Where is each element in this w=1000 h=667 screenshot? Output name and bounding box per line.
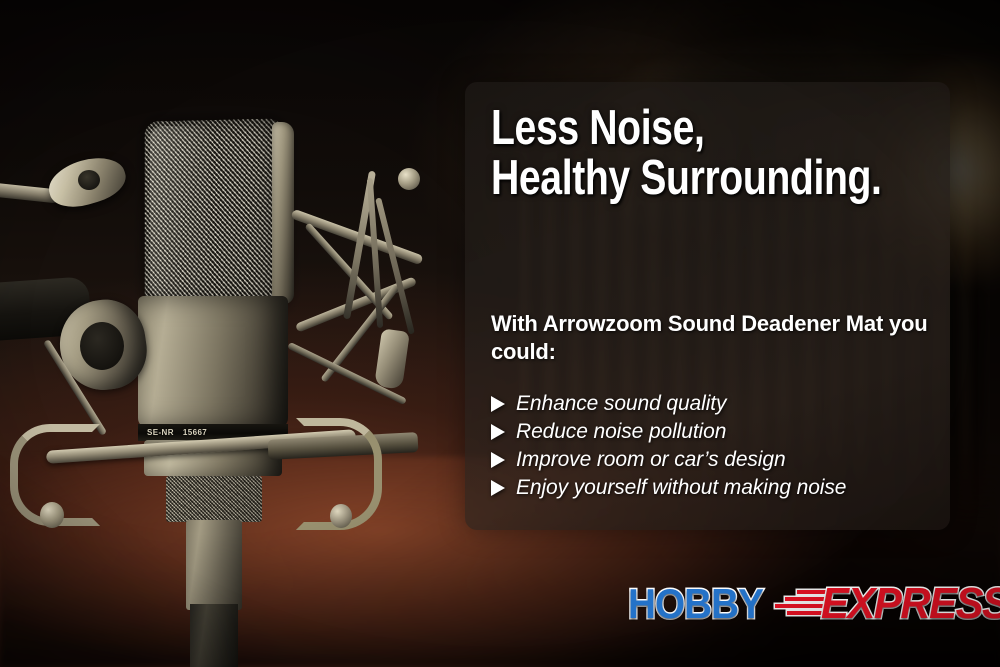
microphone-grille-highlight (150, 126, 210, 298)
list-item: Enjoy yourself without making noise (491, 474, 846, 502)
page-title: Less Noise, Healthy Surrounding. (491, 104, 837, 204)
triangle-right-icon (491, 396, 505, 412)
brand-logo[interactable]: HOBBY EXPRESS (628, 578, 968, 630)
microphone-serial-number: 15667 (183, 428, 207, 437)
condenser-microphone: SE-NR 15667 (0, 0, 460, 667)
shockmount-ball-top (398, 168, 420, 190)
list-item: Enhance sound quality (491, 390, 846, 418)
shockmount-ball-right (330, 504, 352, 528)
triangle-right-icon (491, 452, 505, 468)
triangle-right-icon (491, 424, 505, 440)
shockmount-right-foot (374, 328, 410, 389)
microphone-body (138, 296, 288, 428)
logo-word-express: EXPRESS (821, 582, 1000, 626)
shockmount-ball-left (40, 502, 64, 528)
microphone-serial-prefix: SE-NR (147, 428, 174, 437)
text-overlay-panel: Less Noise, Healthy Surrounding. With Ar… (465, 82, 950, 530)
microphone-knurled-nut (166, 476, 262, 522)
list-item-label: Enhance sound quality (516, 392, 726, 416)
triangle-right-icon (491, 480, 505, 496)
list-item: Reduce noise pollution (491, 418, 846, 446)
microphone-stand-pole (190, 604, 238, 667)
list-item: Improve room or car’s design (491, 446, 846, 474)
list-item-label: Improve room or car’s design (516, 448, 786, 472)
microphone-grille-rim (272, 122, 294, 304)
microphone-stem (186, 520, 242, 610)
list-item-label: Reduce noise pollution (516, 420, 726, 444)
headline-line-1: Less Noise, (491, 101, 704, 155)
logo-word-hobby: HOBBY (628, 583, 763, 625)
headline-line-2: Healthy Surrounding. (491, 154, 837, 204)
promo-banner: SE-NR 15667 Less Noise, Healthy Surround… (0, 0, 1000, 667)
mount-pivot-screw (78, 170, 100, 190)
subheading: With Arrowzoom Sound Deadener Mat you co… (491, 310, 943, 365)
shockmount-clamp-bore (80, 322, 124, 370)
speed-lines-icon (771, 587, 827, 621)
list-item-label: Enjoy yourself without making noise (516, 476, 846, 500)
benefits-list: Enhance sound quality Reduce noise pollu… (491, 390, 846, 502)
